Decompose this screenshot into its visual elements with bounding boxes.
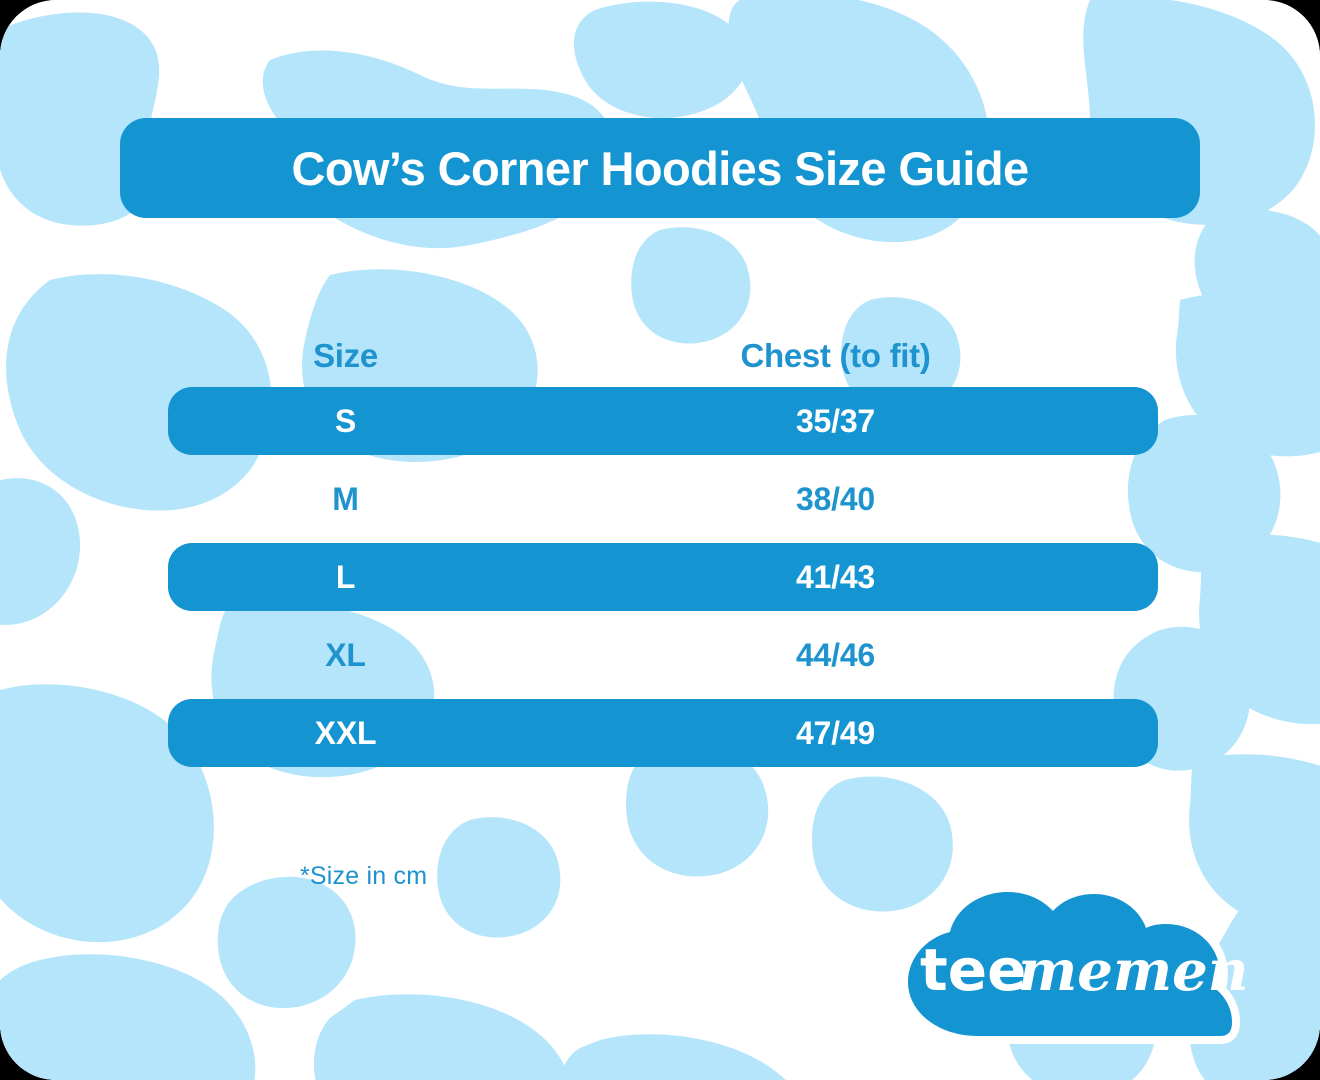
size-value: S	[335, 403, 356, 439]
logo-word-tee: tee	[920, 936, 1026, 1004]
column-header-size: Size	[313, 337, 378, 374]
size-value: XXL	[315, 715, 377, 751]
size-value: M	[332, 481, 358, 517]
footnote-size-units: *Size in cm	[300, 862, 427, 891]
column-header-size-cell: Size	[168, 337, 523, 375]
table-row: XL 44/46	[168, 621, 1158, 689]
cell-chest: 44/46	[523, 637, 1158, 674]
chest-value: 47/49	[796, 715, 875, 751]
size-value: XL	[325, 637, 366, 673]
table-row: XXL 47/49	[168, 699, 1158, 767]
brand-logo: tee memento	[890, 886, 1250, 1051]
table-row: S 35/37	[168, 387, 1158, 455]
cell-size: M	[168, 481, 523, 518]
page-title: Cow’s Corner Hoodies Size Guide	[291, 141, 1028, 196]
size-value: L	[336, 559, 355, 595]
cell-size: L	[168, 559, 523, 596]
table-row: M 38/40	[168, 465, 1158, 533]
cell-size: XXL	[168, 715, 523, 752]
cell-size: XL	[168, 637, 523, 674]
cell-chest: 41/43	[523, 559, 1158, 596]
chest-value: 44/46	[796, 637, 875, 673]
table-header-row: Size Chest (to fit)	[168, 325, 1158, 387]
table-row: L 41/43	[168, 543, 1158, 611]
column-header-chest: Chest (to fit)	[740, 337, 930, 374]
chest-value: 41/43	[796, 559, 875, 595]
column-header-chest-cell: Chest (to fit)	[523, 337, 1158, 375]
chest-value: 38/40	[796, 481, 875, 517]
cell-chest: 35/37	[523, 403, 1158, 440]
cell-chest: 38/40	[523, 481, 1158, 518]
cell-size: S	[168, 403, 523, 440]
chest-value: 35/37	[796, 403, 875, 439]
size-guide-table: Size Chest (to fit) S 35/37 M 38/40	[168, 325, 1158, 777]
cell-chest: 47/49	[523, 715, 1158, 752]
title-banner: Cow’s Corner Hoodies Size Guide	[120, 118, 1200, 218]
size-guide-canvas: Cow’s Corner Hoodies Size Guide Size Che…	[0, 0, 1320, 1080]
logo-word-memento: memento	[1018, 938, 1250, 1004]
